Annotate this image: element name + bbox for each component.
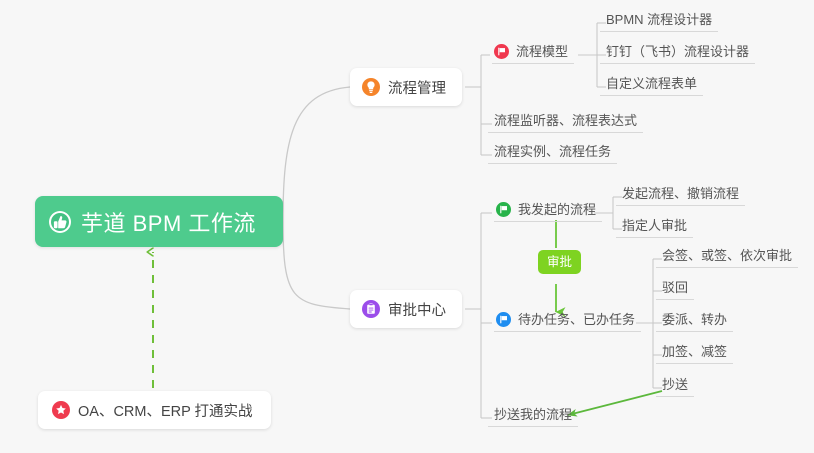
leaf-assignee-approval[interactable]: 指定人审批 bbox=[616, 218, 693, 238]
root-node[interactable]: 芋道 BPM 工作流 bbox=[35, 196, 283, 247]
card-node-integration[interactable]: OA、CRM、ERP 打通实战 bbox=[38, 391, 271, 429]
thumbs-up-icon bbox=[49, 211, 71, 233]
leaf-add-remove-sign[interactable]: 加签、减签 bbox=[656, 344, 733, 364]
card-label-integration: OA、CRM、ERP 打通实战 bbox=[78, 400, 253, 421]
leaf-process-model[interactable]: 流程模型 bbox=[492, 44, 574, 64]
leaf-bpmn-designer[interactable]: BPMN 流程设计器 bbox=[600, 12, 718, 32]
lightbulb-icon bbox=[362, 78, 380, 96]
root-label: 芋道 BPM 工作流 bbox=[81, 206, 256, 238]
leaf-dingtalk-feishu-designer[interactable]: 钉钉（飞书）流程设计器 bbox=[600, 44, 755, 64]
branch-node-process-management[interactable]: 流程管理 bbox=[350, 68, 462, 106]
branch-label-approval-center: 审批中心 bbox=[388, 299, 446, 320]
branch-node-approval-center[interactable]: 审批中心 bbox=[350, 290, 462, 328]
leaf-todo-done-tasks[interactable]: 待办任务、已办任务 bbox=[494, 312, 641, 332]
star-icon bbox=[52, 401, 70, 419]
leaf-process-listener-expression[interactable]: 流程监听器、流程表达式 bbox=[488, 113, 643, 133]
clipboard-icon bbox=[362, 300, 380, 318]
flag-icon bbox=[494, 44, 509, 59]
flag-icon bbox=[496, 202, 511, 217]
leaf-custom-process-form[interactable]: 自定义流程表单 bbox=[600, 76, 703, 96]
leaf-my-started-processes[interactable]: 我发起的流程 bbox=[494, 202, 602, 222]
leaf-process-instance-task[interactable]: 流程实例、流程任务 bbox=[488, 144, 617, 164]
leaf-reject[interactable]: 驳回 bbox=[656, 280, 694, 300]
leaf-label: 我发起的流程 bbox=[518, 202, 596, 217]
leaf-cc-to-me-processes[interactable]: 抄送我的流程 bbox=[488, 407, 578, 427]
leaf-label: 待办任务、已办任务 bbox=[518, 312, 635, 327]
leaf-start-cancel-process[interactable]: 发起流程、撤销流程 bbox=[616, 186, 745, 206]
mindmap-canvas: 芋道 BPM 工作流 流程管理 审批中心 bbox=[0, 0, 814, 453]
branch-label-process-management: 流程管理 bbox=[388, 77, 446, 98]
leaf-label: 流程模型 bbox=[516, 44, 568, 59]
leaf-carbon-copy[interactable]: 抄送 bbox=[656, 377, 694, 397]
leaf-countersign-orsign-sequential[interactable]: 会签、或签、依次审批 bbox=[656, 248, 798, 268]
tag-approval[interactable]: 审批 bbox=[538, 250, 581, 274]
flag-icon bbox=[496, 312, 511, 327]
leaf-delegate-transfer[interactable]: 委派、转办 bbox=[656, 312, 733, 332]
